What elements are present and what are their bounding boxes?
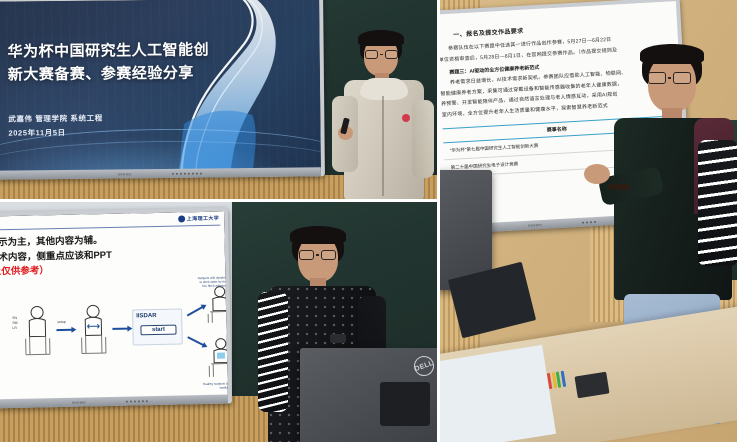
desk-front-panel	[440, 345, 556, 442]
content-line-3-wrapper: 来。 （以上仅供参考）	[0, 261, 201, 281]
slide-title-line-1: 华为杯中国研究生人工智能创	[8, 39, 218, 64]
iisdar-workflow-diagram: SN SM LR setup	[12, 290, 220, 388]
screenshot-collage: 华为杯中国研究生人工智能创 新大赛备赛、参赛经验分享 武嘉伟 管理学院 系统工程…	[0, 0, 737, 442]
glasses-icon-3	[648, 72, 691, 84]
document-slide-panel: 一、报名及提交作品要求 参赛队伍在以下赛题中任选其一进行作品创作参赛，5月27日…	[440, 0, 737, 442]
board-brand-label-2: seewo	[72, 399, 86, 404]
interactive-whiteboard-top-left[interactable]: 华为杯中国研究生人工智能创 新大赛备赛、参赛经验分享 武嘉伟 管理学院 系统工程…	[0, 0, 325, 180]
slide-title-line-2: 新大赛备赛、参赛经验分享	[8, 62, 218, 87]
presenter-top-left	[330, 30, 436, 199]
seated-figure-1	[20, 305, 55, 358]
wrist-watch	[608, 184, 630, 190]
wheelchair-figure-top	[206, 285, 228, 326]
branch-top-caption: Subjects with dysphagia who are unable t…	[197, 275, 228, 288]
wheelchair-figure-bottom	[207, 337, 228, 380]
seated-figure-2	[76, 304, 111, 357]
whiteboard-screen-2[interactable]: 上海理工大学 进行真实演示为主，其他内容为辅。 放过多的技术内容，侧重点应该和P…	[0, 212, 228, 405]
marker-pen-tray	[547, 371, 566, 389]
slide-date: 2025年11月5日	[8, 125, 218, 141]
iisdar-start-device: IISDAR start	[132, 308, 183, 345]
diagram-step-label: setup	[57, 320, 66, 325]
iisdar-start-title: IISDAR	[136, 313, 156, 319]
arrow-branch-up	[187, 306, 204, 317]
logo-ring-icon	[178, 215, 185, 222]
interactive-whiteboard-bottom-left[interactable]: 上海理工大学 进行真实演示为主，其他内容为辅。 放过多的技术内容，侧重点应该和P…	[0, 207, 232, 408]
hair-fringe-3	[640, 44, 704, 64]
hair-fringe-2	[290, 226, 346, 244]
content-note: （以上仅供参考）	[0, 266, 49, 279]
arrow-1	[56, 329, 72, 331]
iisdar-start-label: start	[140, 325, 176, 336]
logo-text: 上海理工大学	[187, 215, 220, 223]
board-brand-label-3: seewo	[528, 222, 542, 228]
glasses-icon-2	[299, 250, 336, 260]
pointing-hand	[584, 164, 610, 184]
monitor-vesa-mount	[380, 382, 430, 426]
classroom-scene-bottom-left: 上海理工大学 进行真实演示为主，其他内容为辅。 放过多的技术内容，侧重点应该和P…	[0, 202, 437, 442]
branch-bottom-caption: Healthy subjects (xhhx) Continuous swall…	[200, 381, 228, 390]
classroom-scene-right: 一、报名及提交作品要求 参赛队伍在以下赛题中任选其一进行作品创作参赛，5月27日…	[440, 0, 737, 442]
content-slide-textblock: 进行真实演示为主，其他内容为辅。 放过多的技术内容，侧重点应该和PPT 来。 （…	[0, 232, 201, 281]
arrow-branch-down	[187, 336, 204, 346]
dell-monitor: DELL	[300, 348, 437, 442]
left-arm-stripes	[258, 292, 288, 412]
title-slide-panel: 华为杯中国研究生人工智能创 新大赛备赛、参赛经验分享 武嘉伟 管理学院 系统工程…	[0, 0, 437, 199]
jacket-red-emblem	[402, 114, 410, 122]
panel-divider-horizontal	[0, 199, 437, 202]
content-slide-content: 上海理工大学 进行真实演示为主，其他内容为辅。 放过多的技术内容，侧重点应该和P…	[0, 212, 228, 405]
board-button-row[interactable]	[172, 172, 202, 174]
title-slide-content: 华为杯中国研究生人工智能创 新大赛备赛、参赛经验分享 武嘉伟 管理学院 系统工程…	[0, 0, 321, 176]
university-logo: 上海理工大学	[178, 215, 220, 223]
jacket-hood	[360, 78, 408, 100]
content-slide-panel: 上海理工大学 进行真实演示为主，其他内容为辅。 放过多的技术内容，侧重点应该和P…	[0, 202, 437, 442]
board-button-row-2[interactable]	[126, 400, 148, 402]
adidas-logo	[330, 334, 346, 343]
classroom-scene-top-left: 华为杯中国研究生人工智能创 新大赛备赛、参赛经验分享 武嘉伟 管理学院 系统工程…	[0, 0, 437, 199]
glasses-icon	[365, 50, 398, 59]
hair-fringe	[358, 30, 404, 46]
panel-divider-vertical	[437, 0, 440, 442]
title-slide-textblock: 华为杯中国研究生人工智能创 新大赛备赛、参赛经验分享 武嘉伟 管理学院 系统工程…	[8, 39, 219, 141]
board-brand-label: seewo	[118, 171, 132, 176]
jacket-zipper	[382, 96, 384, 196]
right-arm	[412, 100, 434, 178]
diagram-left-labels: SN SM LR	[12, 316, 18, 331]
arrow-2	[112, 328, 128, 330]
whiteboard-screen[interactable]: 华为杯中国研究生人工智能创 新大赛备赛、参赛经验分享 武嘉伟 管理学院 系统工程…	[0, 0, 321, 176]
right-arm-stripes	[698, 140, 737, 266]
slide-header-rule	[0, 225, 220, 231]
